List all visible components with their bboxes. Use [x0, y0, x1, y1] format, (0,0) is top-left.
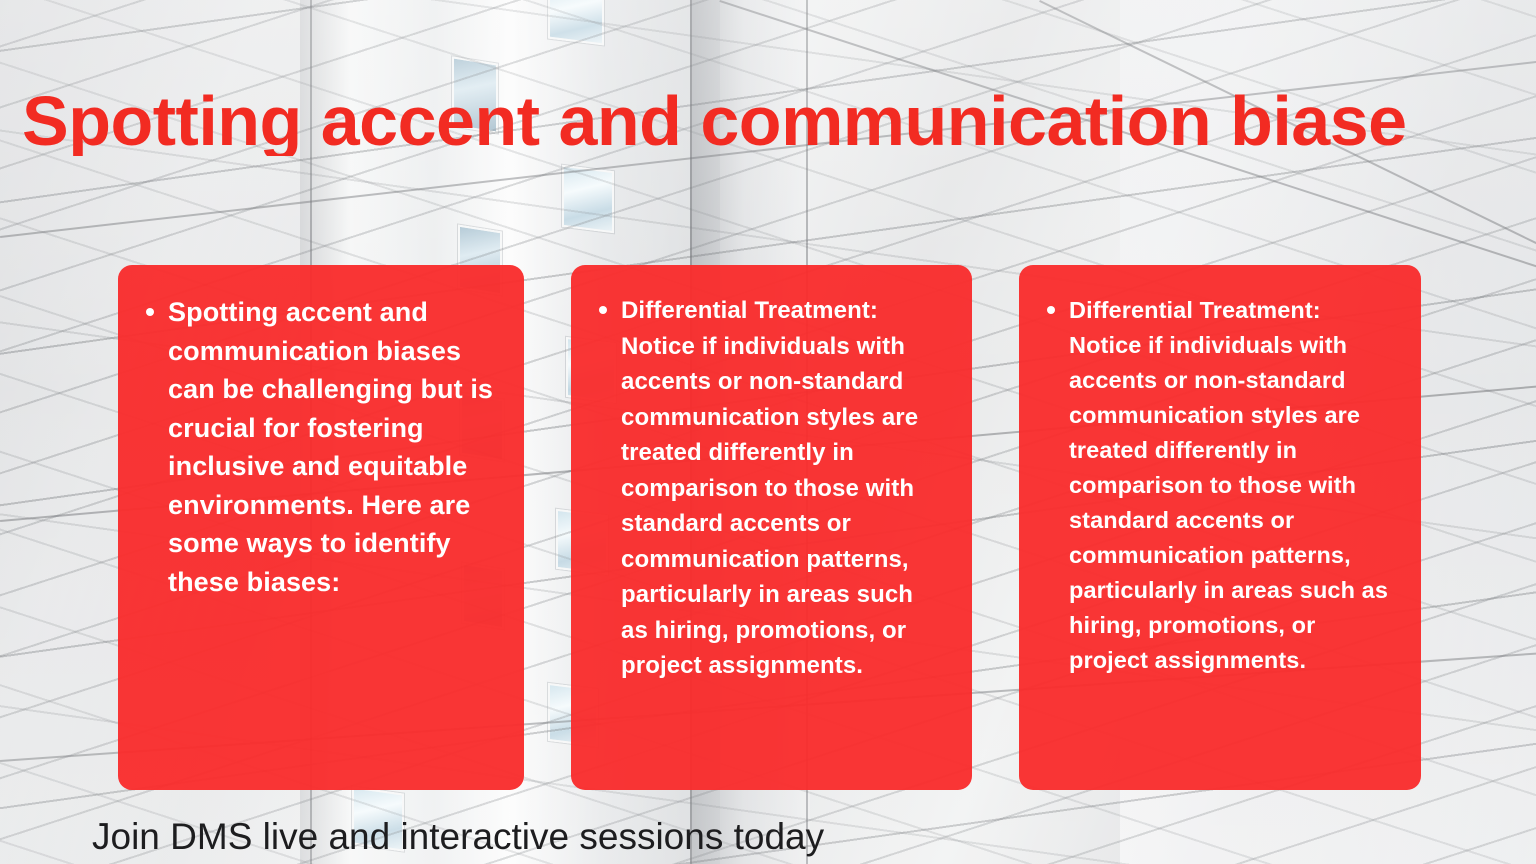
bullet-list: Spotting accent and communication biases… [140, 293, 498, 601]
list-item: Differential Treatment: Notice if indivi… [1041, 293, 1395, 678]
bullet-list: Differential Treatment: Notice if indivi… [1041, 293, 1395, 678]
list-item: Differential Treatment: Notice if indivi… [593, 293, 946, 684]
content-card-2[interactable]: Differential Treatment: Notice if indivi… [571, 265, 972, 790]
footer-caption: Join DMS live and interactive sessions t… [92, 814, 824, 860]
content-card-1[interactable]: Spotting accent and communication biases… [118, 265, 524, 790]
content-card-3[interactable]: Differential Treatment: Notice if indivi… [1019, 265, 1421, 790]
presentation-slide: Spotting accent and communication biase … [0, 0, 1536, 864]
bullet-list: Differential Treatment: Notice if indivi… [593, 293, 946, 684]
card-row: Spotting accent and communication biases… [0, 0, 1536, 864]
list-item: Spotting accent and communication biases… [140, 293, 498, 601]
